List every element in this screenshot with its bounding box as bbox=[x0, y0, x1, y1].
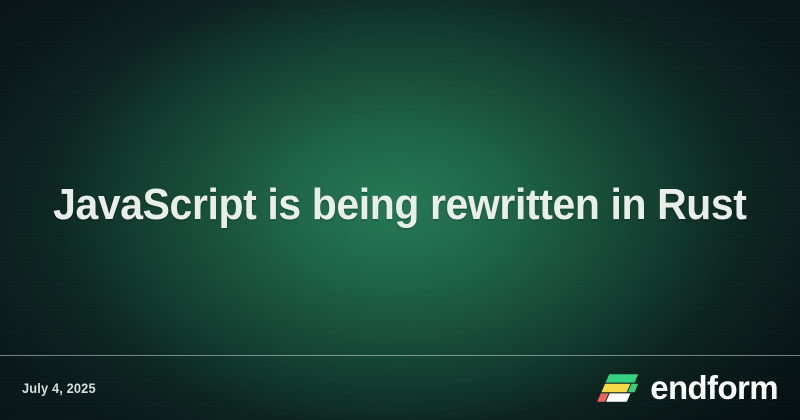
brand-logo-lockup[interactable]: endform bbox=[597, 372, 778, 405]
publish-date: July 4, 2025 bbox=[22, 381, 96, 396]
share-card: JavaScript is being rewritten in Rust Ju… bbox=[0, 0, 800, 420]
footer: July 4, 2025 endform bbox=[0, 356, 800, 420]
headline-container: JavaScript is being rewritten in Rust bbox=[0, 178, 800, 232]
endform-logo-icon bbox=[597, 373, 639, 403]
page-title: JavaScript is being rewritten in Rust bbox=[53, 178, 746, 232]
brand-wordmark: endform bbox=[650, 371, 778, 404]
